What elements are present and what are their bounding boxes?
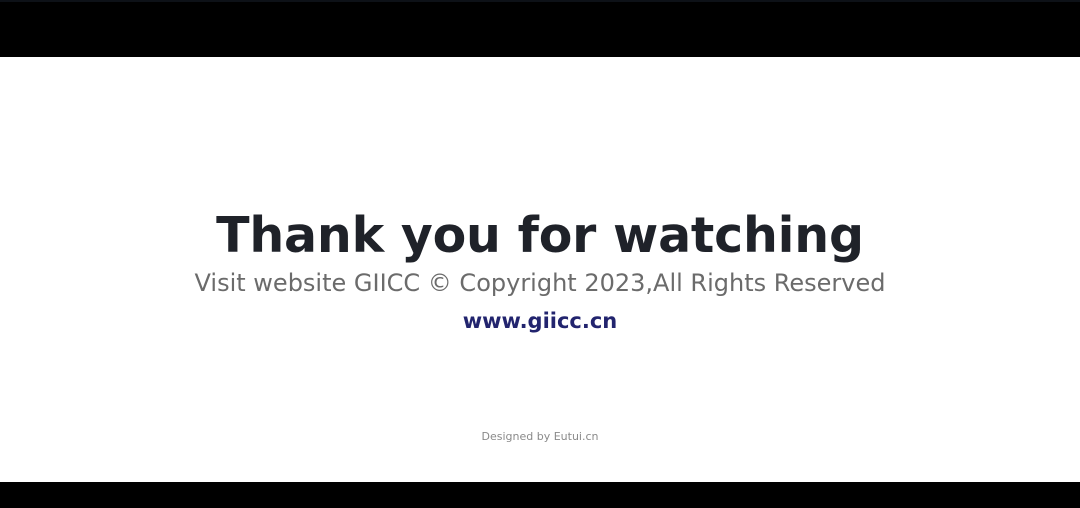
top-edge-hairline	[0, 0, 1080, 2]
presentation-slide-frame: Thank you for watching Visit website GII…	[0, 0, 1080, 508]
designer-credit-text: Designed by Eutui.cn	[0, 430, 1080, 444]
letterbox-bar-top	[0, 0, 1080, 57]
copyright-text: Visit website GIICC © Copyright 2023,All…	[0, 268, 1080, 298]
letterbox-bar-bottom	[0, 482, 1080, 508]
website-url-link[interactable]: www.giicc.cn	[0, 308, 1080, 334]
slide-content-area: Thank you for watching Visit website GII…	[0, 57, 1080, 482]
page-title: Thank you for watching	[0, 206, 1080, 266]
